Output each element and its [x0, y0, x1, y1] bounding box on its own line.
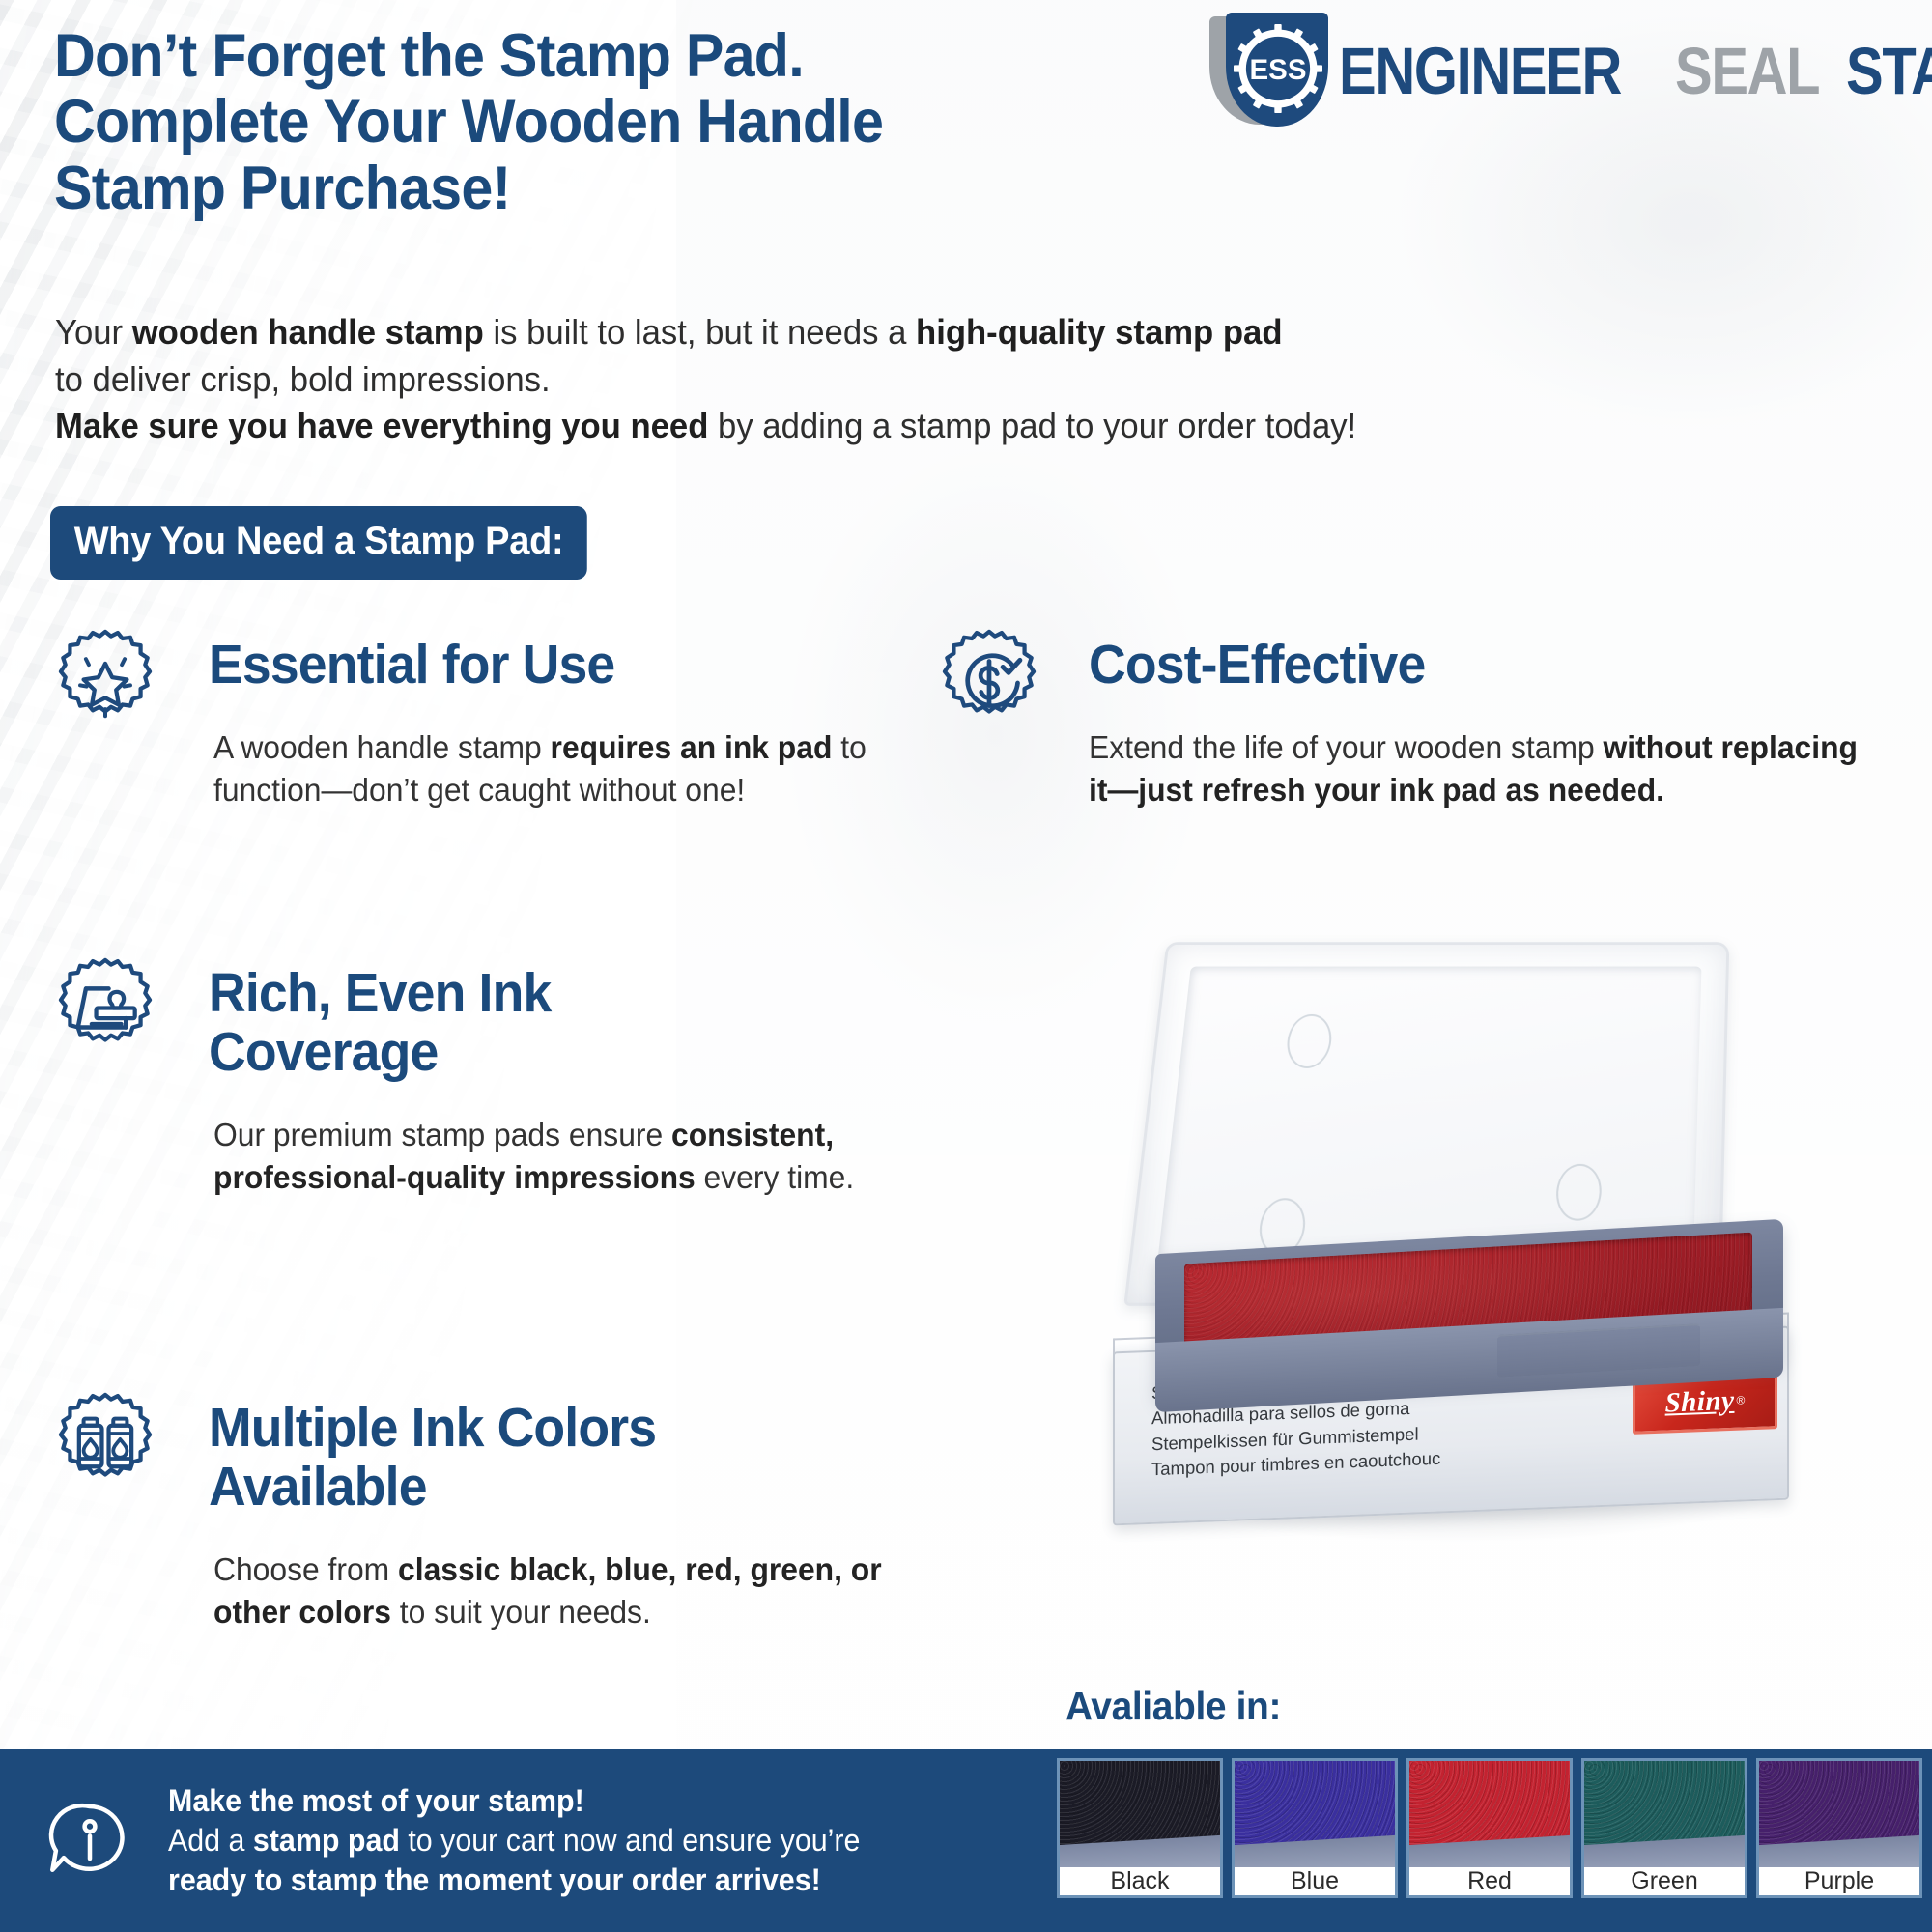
cta-text-run: Add a — [168, 1823, 253, 1858]
shiny-brand-name: Shiny — [1665, 1384, 1735, 1419]
benefit-body: Choose from classic black, blue, red, gr… — [213, 1549, 939, 1634]
logo-word-seal: SEAL — [1675, 38, 1819, 104]
benefit-body-text: A wooden handle stamp — [213, 730, 551, 766]
headline-line-3: Stamp Purchase! — [54, 156, 1135, 221]
ink-bottles-badge-icon — [48, 1389, 162, 1503]
intro-text: by adding a stamp pad to your order toda… — [708, 406, 1356, 445]
intro-bold-stamp: wooden handle stamp — [132, 312, 484, 352]
swatch-grain — [1060, 1761, 1220, 1867]
swatch-purple[interactable]: Purple — [1756, 1758, 1922, 1898]
benefit-body-bold: requires an ink pad — [551, 730, 833, 766]
star-badge-icon — [48, 626, 162, 740]
cta-bold-stamp-pad: stamp pad — [253, 1823, 400, 1858]
gear-icon: ESS — [1234, 24, 1322, 113]
swatch-label: Black — [1060, 1867, 1220, 1895]
swatch-green[interactable]: Green — [1581, 1758, 1747, 1898]
benefit-body: Extend the life of your wooden stamp wit… — [1089, 727, 1860, 812]
available-in-label: Avaliable in: — [1065, 1684, 1281, 1729]
swatch-grain — [1409, 1761, 1570, 1867]
swatch-black[interactable]: Black — [1057, 1758, 1223, 1898]
swatch-color-green — [1584, 1761, 1745, 1867]
cta-text: Make the most of your stamp! Add a stamp… — [168, 1781, 860, 1901]
benefit-body-text: Extend the life of your wooden stamp — [1089, 730, 1604, 766]
swatch-label: Purple — [1759, 1867, 1919, 1895]
swatch-grain — [1759, 1761, 1919, 1867]
headline-line-1: Don’t Forget the Stamp Pad. — [54, 23, 1135, 89]
cta-text-run: to your cart now and ensure you’re — [400, 1823, 861, 1858]
benefit-title: Rich, Even Ink Coverage — [209, 964, 717, 1082]
benefit-title: Cost-Effective — [1089, 636, 1833, 695]
cta-line-1: Make the most of your stamp! — [168, 1781, 860, 1821]
swatch-grain — [1235, 1761, 1395, 1867]
swatch-color-black — [1060, 1761, 1220, 1867]
intro-bold-makesure: Make sure you have everything you need — [55, 406, 708, 445]
swatch-grain — [1584, 1761, 1745, 1867]
swatch-color-blue — [1235, 1761, 1395, 1867]
brand-logo[interactable]: ESS ENGINEER SEAL STAMPS .COM — [1209, 12, 1924, 129]
registered-mark: ® — [1736, 1393, 1745, 1406]
swatch-label: Blue — [1235, 1867, 1395, 1895]
intro-line-3: Make sure you have everything you need b… — [55, 403, 1670, 450]
benefit-body-text: to suit your needs. — [391, 1595, 651, 1631]
benefit-title: Multiple Ink Colors Available — [209, 1399, 808, 1517]
info-bubble-icon — [46, 1798, 133, 1885]
product-photo-stamp-pad: Stamp pad for rubber stamps Almohadilla … — [1092, 935, 1835, 1573]
lid-dimple — [1285, 1014, 1334, 1068]
intro-text: is built to last, but it needs a — [484, 312, 916, 352]
benefit-body-text: Our premium stamp pads ensure — [213, 1118, 671, 1153]
swatch-label: Green — [1584, 1867, 1745, 1895]
logo-wordmark: ENGINEER SEAL STAMPS .COM — [1339, 38, 1932, 104]
swatch-label: Red — [1409, 1867, 1570, 1895]
section-badge: Why You Need a Stamp Pad: — [50, 506, 587, 580]
logo-mark-text: ESS — [1250, 54, 1307, 86]
intro-text: Your — [55, 312, 132, 352]
intro-line-2: to deliver crisp, bold impressions. — [55, 356, 1670, 404]
swatch-blue[interactable]: Blue — [1232, 1758, 1398, 1898]
infographic-page: Don’t Forget the Stamp Pad. Complete You… — [0, 0, 1932, 1932]
color-swatch-strip: Black Blue Red Green Purple — [1048, 1749, 1932, 1932]
logo-word-stamps: STAMPS — [1846, 38, 1932, 104]
swatch-red[interactable]: Red — [1406, 1758, 1573, 1898]
benefit-body: Our premium stamp pads ensure consistent… — [213, 1115, 856, 1200]
logo-word-engineer: ENGINEER — [1339, 38, 1621, 104]
intro-line-1: Your wooden handle stamp is built to las… — [55, 309, 1670, 356]
cta-line-3: ready to stamp the moment your order arr… — [168, 1861, 860, 1900]
page-title: Don’t Forget the Stamp Pad. Complete You… — [54, 23, 1135, 221]
benefit-body-text: every time. — [696, 1160, 854, 1196]
swatch-color-purple — [1759, 1761, 1919, 1867]
swatch-color-red — [1409, 1761, 1570, 1867]
benefit-body-text: Choose from — [213, 1552, 398, 1588]
headline-line-2: Complete Your Wooden Handle — [54, 89, 1135, 155]
cta-line-2: Add a stamp pad to your cart now and ens… — [168, 1821, 860, 1861]
header: Don’t Forget the Stamp Pad. Complete You… — [0, 0, 1932, 241]
benefit-body: A wooden handle stamp requires an ink pa… — [213, 727, 911, 812]
lid-dimple — [1555, 1164, 1603, 1221]
shield-icon: ESS — [1209, 13, 1333, 128]
benefit-title: Essential for Use — [209, 636, 881, 695]
intro-bold-pad: high-quality stamp pad — [916, 312, 1283, 352]
intro-paragraph: Your wooden handle stamp is built to las… — [55, 309, 1670, 450]
rubber-stamp-badge-icon — [48, 954, 162, 1068]
cta-bar: Make the most of your stamp! Add a stamp… — [0, 1749, 1048, 1932]
dollar-check-badge-icon — [932, 626, 1046, 740]
